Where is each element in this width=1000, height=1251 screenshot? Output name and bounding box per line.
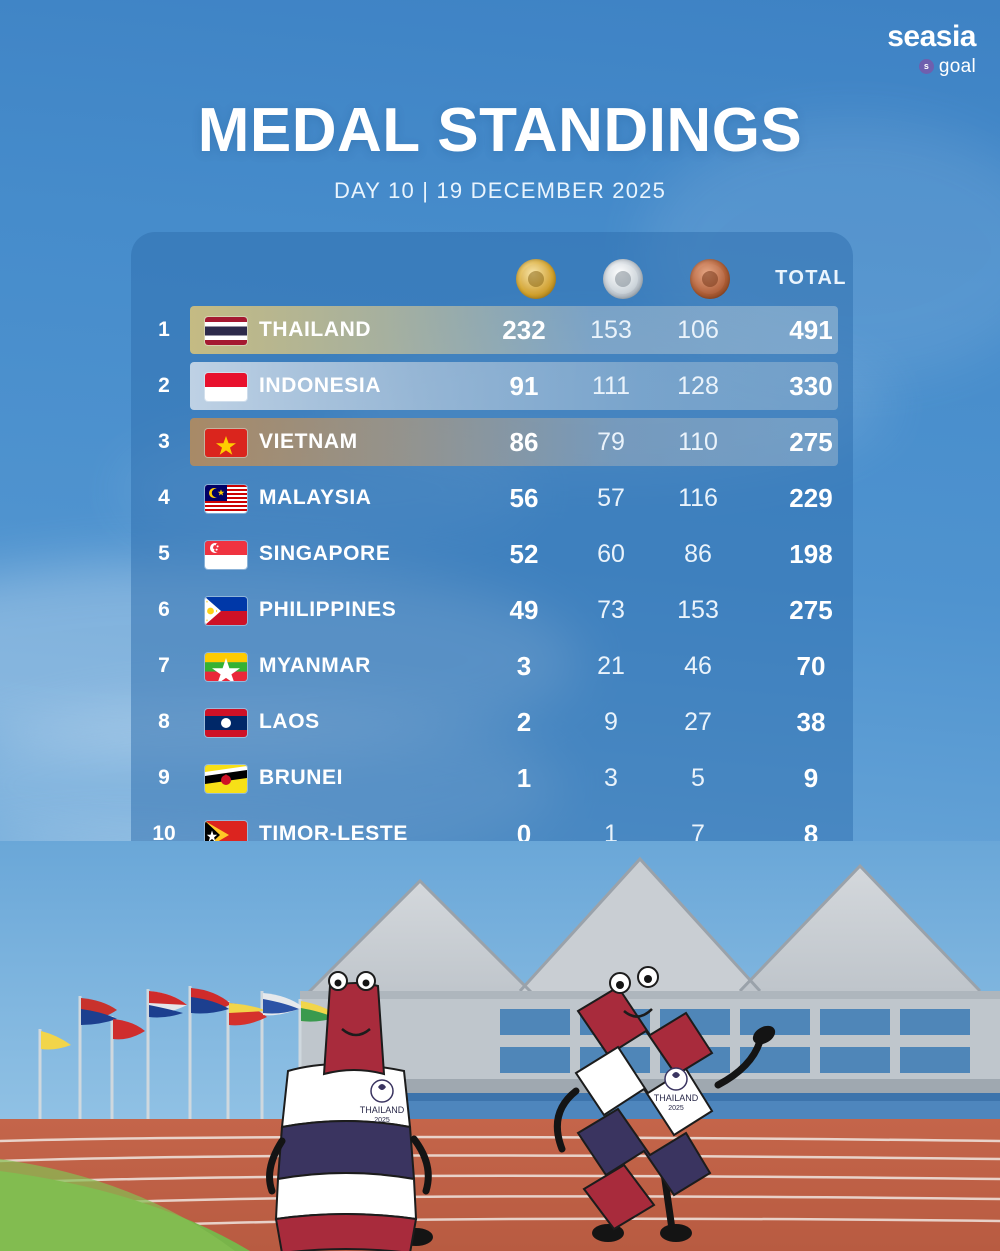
headline-block: MEDAL STANDINGS DAY 10 | 19 DECEMBER 202…	[0, 100, 1000, 204]
table-row[interactable]: 9 BRUNEI1359	[131, 752, 853, 808]
indonesia-flag-icon	[205, 373, 247, 401]
row-silver-count: 57	[563, 472, 659, 524]
row-rank: 9	[141, 752, 187, 804]
row-rank: 6	[141, 584, 187, 636]
svg-text:2025: 2025	[374, 1117, 390, 1124]
svg-text:THAILAND: THAILAND	[654, 1093, 699, 1103]
table-row[interactable]: 3 VIETNAM8679110275	[131, 416, 853, 472]
row-total-count: 330	[763, 360, 859, 412]
row-bronze-count: 5	[650, 752, 746, 804]
row-total-count: 38	[763, 696, 859, 748]
row-country-name: LAOS	[259, 696, 320, 748]
brunei-flag-icon	[205, 765, 247, 793]
row-country-name: PHILIPPINES	[259, 584, 396, 636]
silver-medal-icon	[603, 259, 643, 299]
row-country-name: BRUNEI	[259, 752, 343, 804]
row-country-name: MYANMAR	[259, 640, 371, 692]
row-bronze-count: 110	[650, 416, 746, 468]
row-total-count: 491	[763, 304, 859, 356]
row-rank: 4	[141, 472, 187, 524]
myanmar-flag-icon	[205, 653, 247, 681]
table-row[interactable]: 7 MYANMAR3214670	[131, 640, 853, 696]
row-bronze-count: 46	[650, 640, 746, 692]
row-silver-count: 73	[563, 584, 659, 636]
row-bronze-count: 27	[650, 696, 746, 748]
medal-standings-poster: seasia s goal MEDAL STANDINGS DAY 10 | 1…	[0, 0, 1000, 1251]
row-total-count: 9	[763, 752, 859, 804]
row-gold-count: 2	[476, 696, 572, 748]
row-gold-count: 3	[476, 640, 572, 692]
svg-text:2025: 2025	[668, 1105, 684, 1112]
row-rank: 1	[141, 304, 187, 356]
brand-badge-icon: s	[919, 59, 934, 74]
row-rank: 5	[141, 528, 187, 580]
medal-column-header: TOTAL	[131, 254, 853, 304]
stadium-mascots-illustration: THAILAND 2025	[0, 841, 1000, 1251]
malaysia-flag-icon	[205, 485, 247, 513]
row-gold-count: 232	[476, 304, 572, 356]
row-country-name: SINGAPORE	[259, 528, 390, 580]
page-subtitle: DAY 10 | 19 DECEMBER 2025	[0, 178, 1000, 204]
row-silver-count: 60	[563, 528, 659, 580]
row-bronze-count: 116	[650, 472, 746, 524]
row-country-name: VIETNAM	[259, 416, 358, 468]
row-gold-count: 52	[476, 528, 572, 580]
row-bronze-count: 153	[650, 584, 746, 636]
row-silver-count: 3	[563, 752, 659, 804]
row-gold-count: 91	[476, 360, 572, 412]
total-column-label: TOTAL	[763, 267, 859, 290]
gold-medal-emblem	[528, 271, 544, 287]
table-row[interactable]: 5 SINGAPORE526086198	[131, 528, 853, 584]
row-silver-count: 111	[563, 360, 659, 412]
brand-name: seasia	[887, 22, 976, 52]
row-silver-count: 9	[563, 696, 659, 748]
row-rank: 7	[141, 640, 187, 692]
table-row[interactable]: 8 LAOS292738	[131, 696, 853, 752]
svg-text:THAILAND: THAILAND	[360, 1105, 405, 1115]
brand-goal-label: goal	[939, 57, 976, 76]
row-bronze-count: 106	[650, 304, 746, 356]
silver-medal-emblem	[615, 271, 631, 287]
row-country-name: INDONESIA	[259, 360, 381, 412]
bronze-medal-icon	[690, 259, 730, 299]
table-row[interactable]: 6 PHILIPPINES4973153275	[131, 584, 853, 640]
brand-logo: seasia s goal	[887, 22, 976, 76]
row-country-name: MALAYSIA	[259, 472, 372, 524]
row-gold-count: 56	[476, 472, 572, 524]
brand-subline: s goal	[887, 57, 976, 76]
table-row[interactable]: 4 MALAYSIA5657116229	[131, 472, 853, 528]
table-row[interactable]: 1 THAILAND232153106491	[131, 304, 853, 360]
page-title: MEDAL STANDINGS	[0, 100, 1000, 162]
row-country-name: THAILAND	[259, 304, 371, 356]
table-row[interactable]: 2INDONESIA91111128330	[131, 360, 853, 416]
row-bronze-count: 128	[650, 360, 746, 412]
row-total-count: 70	[763, 640, 859, 692]
row-silver-count: 79	[563, 416, 659, 468]
vietnam-flag-icon	[205, 429, 247, 457]
laos-flag-icon	[205, 709, 247, 737]
row-rank: 2	[141, 360, 187, 412]
philippines-flag-icon	[205, 597, 247, 625]
row-total-count: 229	[763, 472, 859, 524]
gold-medal-icon	[516, 259, 556, 299]
row-bronze-count: 86	[650, 528, 746, 580]
row-silver-count: 153	[563, 304, 659, 356]
running-track	[0, 1119, 1000, 1251]
row-total-count: 198	[763, 528, 859, 580]
row-total-count: 275	[763, 584, 859, 636]
singapore-flag-icon	[205, 541, 247, 569]
thailand-flag-icon	[205, 317, 247, 345]
bronze-medal-emblem	[702, 271, 718, 287]
row-gold-count: 49	[476, 584, 572, 636]
row-gold-count: 1	[476, 752, 572, 804]
row-silver-count: 21	[563, 640, 659, 692]
row-rank: 8	[141, 696, 187, 748]
standings-rows: 1 THAILAND2321531064912INDONESIA91111128…	[131, 304, 853, 864]
row-total-count: 275	[763, 416, 859, 468]
row-rank: 3	[141, 416, 187, 468]
standings-panel: TOTAL 1 THAILAND2321531064912INDONESIA91…	[131, 232, 853, 894]
row-gold-count: 86	[476, 416, 572, 468]
